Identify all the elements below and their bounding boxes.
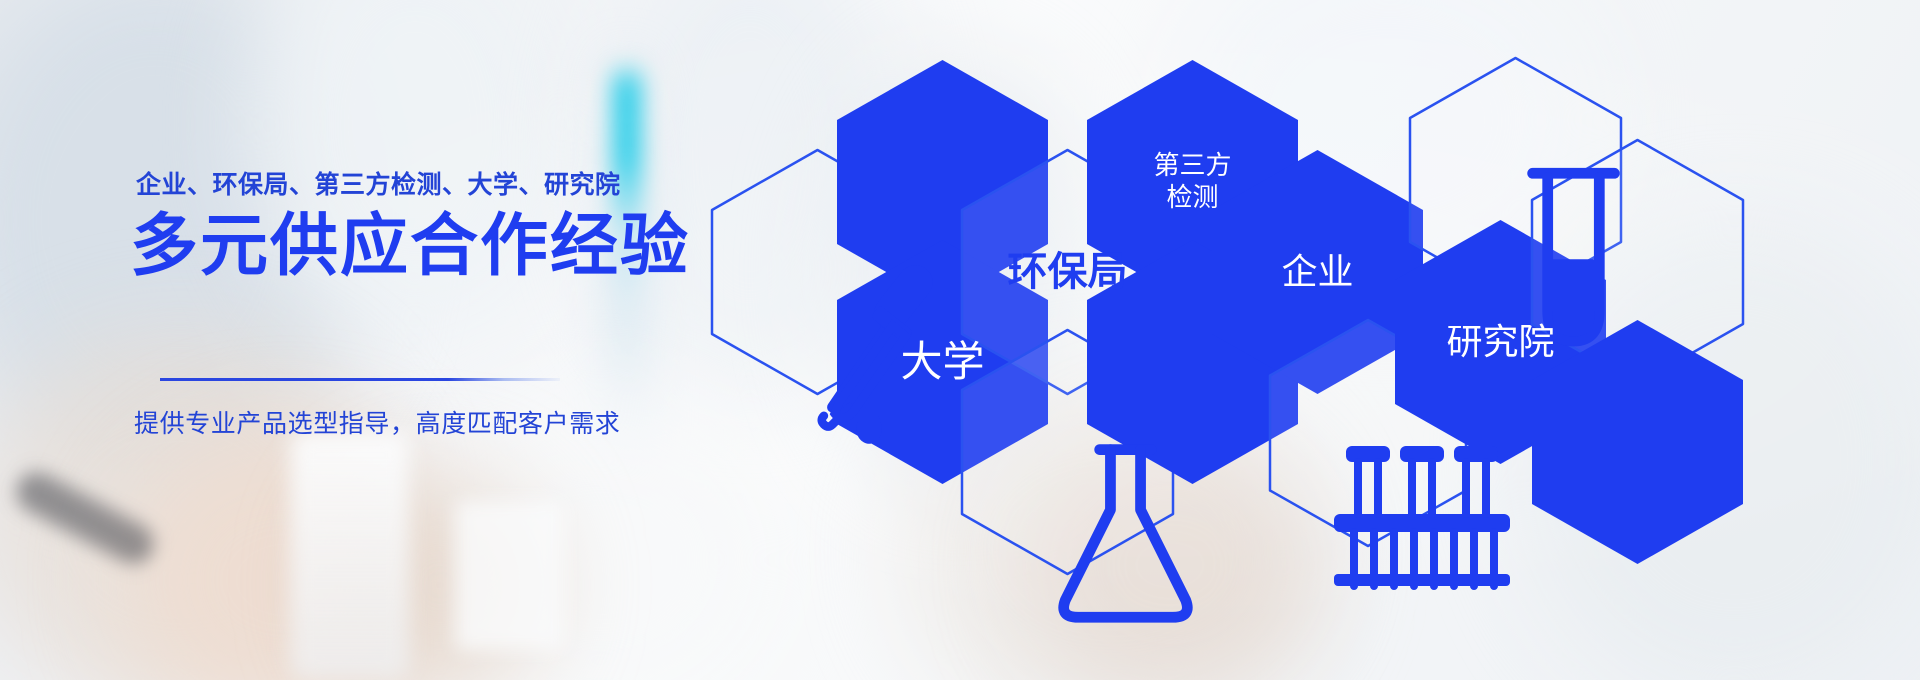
hexagon-testtube[interactable] <box>1408 56 1623 304</box>
test-tube-rack-icon <box>1268 318 1468 548</box>
hexagon-rack[interactable] <box>1268 318 1468 548</box>
hexagon-flask[interactable] <box>960 328 1175 576</box>
hexagon-label-qiye: 企业 <box>1281 250 1353 294</box>
hexagon-label-disanfang: 第三方 检测 <box>1153 150 1231 213</box>
hexagon-label-huanbaoju: 环保局 <box>1008 248 1128 297</box>
promo-banner: 企业、环保局、第三方检测、大学、研究院 多元供应合作经验 提供专业产品选型指导，… <box>0 0 1920 680</box>
hexagon-cluster: 大学环保局 第三方 检测企业 研究院 <box>0 0 1920 680</box>
test-tube-icon <box>1408 56 1623 304</box>
hexagon-label-yanjiuyuan: 研究院 <box>1446 320 1554 364</box>
dropper-icon <box>710 148 925 396</box>
flask-icon <box>960 328 1175 576</box>
hexagon-dropper[interactable] <box>710 148 925 396</box>
